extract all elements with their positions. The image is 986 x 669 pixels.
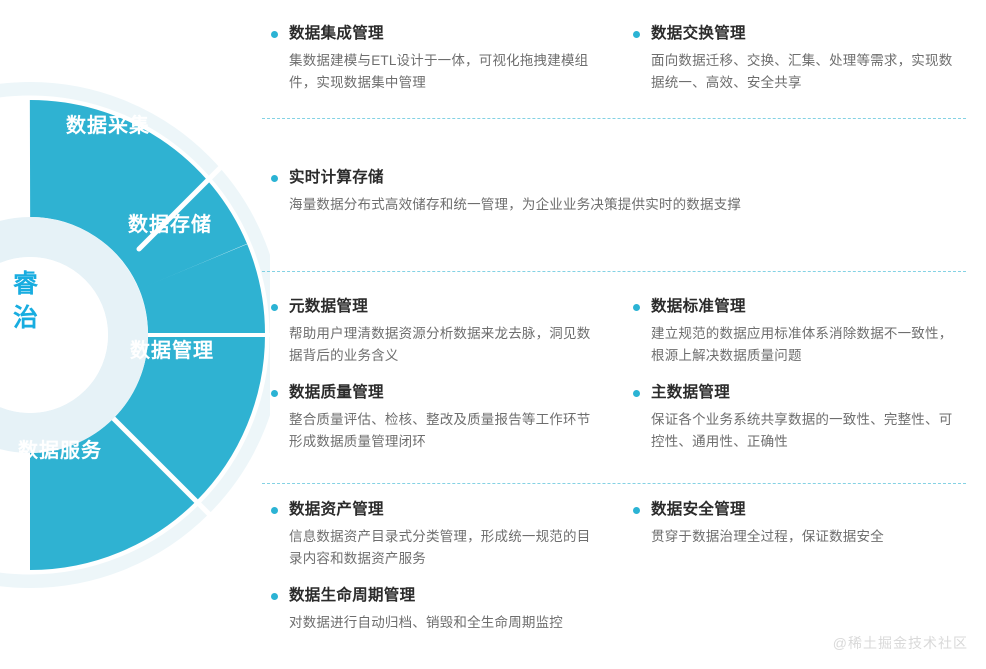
feature-title: 数据集成管理 <box>289 24 624 43</box>
feature-desc: 信息数据资产目录式分类管理，形成统一规范的目录内容和数据资产服务 <box>289 526 601 570</box>
wheel-sector-storage[interactable] <box>193 267 206 336</box>
feature-desc: 贯穿于数据治理全过程，保证数据安全 <box>651 526 963 548</box>
feature-column-right: 数据安全管理 贯穿于数据治理全过程，保证数据安全 <box>624 500 986 548</box>
feature-desc: 海量数据分布式高效储存和统一管理，为企业业务决策提供实时的数据支撑 <box>289 194 929 216</box>
bullet-icon <box>271 507 278 514</box>
feature-desc: 保证各个业务系统共享数据的一致性、完整性、可控性、通用性、正确性 <box>651 409 963 453</box>
watermark: @稀土掘金技术社区 <box>833 633 968 653</box>
feature-title: 数据资产管理 <box>289 500 624 519</box>
bullet-icon <box>633 31 640 38</box>
feature-item[interactable]: 数据集成管理 集数据建模与ETL设计于一体，可视化拖拽建模组件，实现数据集中管理 <box>262 24 624 94</box>
feature-title: 实时计算存储 <box>289 168 986 187</box>
feature-title: 数据生命周期管理 <box>289 586 624 605</box>
feature-list: 数据集成管理 集数据建模与ETL设计于一体，可视化拖拽建模组件，实现数据集中管理… <box>262 0 986 669</box>
feature-column-left: 数据集成管理 集数据建模与ETL设计于一体，可视化拖拽建模组件，实现数据集中管理 <box>262 24 624 94</box>
wheel-label-collection: 数据采集 <box>66 113 150 137</box>
wheel-sector-service[interactable] <box>30 460 155 512</box>
feature-item[interactable]: 数据质量管理 整合质量评估、检核、整改及质量报告等工作环节形成数据质量管理闭环 <box>262 383 624 453</box>
feature-item[interactable]: 数据交换管理 面向数据迁移、交换、汇集、处理等需求，实现数据统一、高效、安全共享 <box>624 24 986 94</box>
feature-desc: 对数据进行自动归档、销毁和全生命周期监控 <box>289 612 624 634</box>
feature-desc: 帮助用户理清数据资源分析数据来龙去脉，洞见数据背后的业务含义 <box>289 323 601 367</box>
feature-column-left: 实时计算存储 海量数据分布式高效储存和统一管理，为企业业务决策提供实时的数据支撑 <box>262 168 986 216</box>
bullet-icon <box>633 507 640 514</box>
bullet-icon <box>271 593 278 600</box>
feature-item[interactable]: 数据安全管理 贯穿于数据治理全过程，保证数据安全 <box>624 500 986 548</box>
feature-title: 数据交换管理 <box>651 24 986 43</box>
bullet-icon <box>271 390 278 397</box>
feature-column-right: 数据标准管理 建立规范的数据应用标准体系消除数据不一致性，根源上解决数据质量问题… <box>624 297 986 453</box>
feature-column-left: 数据资产管理 信息数据资产目录式分类管理，形成统一规范的目录内容和数据资产服务 … <box>262 500 624 634</box>
feature-column-right: 数据交换管理 面向数据迁移、交换、汇集、处理等需求，实现数据统一、高效、安全共享 <box>624 24 986 94</box>
feature-item[interactable]: 实时计算存储 海量数据分布式高效储存和统一管理，为企业业务决策提供实时的数据支撑 <box>262 168 986 216</box>
wheel-core-label-line1: 睿 <box>13 270 39 298</box>
bullet-icon <box>633 304 640 311</box>
feature-desc: 整合质量评估、检核、整改及质量报告等工作环节形成数据质量管理闭环 <box>289 409 601 453</box>
feature-title: 数据标准管理 <box>651 297 986 316</box>
bullet-icon <box>633 390 640 397</box>
section-divider <box>262 271 966 272</box>
feature-title: 主数据管理 <box>651 383 986 402</box>
feature-desc: 面向数据迁移、交换、汇集、处理等需求，实现数据统一、高效、安全共享 <box>651 50 963 94</box>
feature-item[interactable]: 数据标准管理 建立规范的数据应用标准体系消除数据不一致性，根源上解决数据质量问题 <box>624 297 986 367</box>
bullet-icon <box>271 304 278 311</box>
wheel-core-label-line2: 治 <box>13 303 39 332</box>
feature-title: 元数据管理 <box>289 297 624 316</box>
section-divider <box>262 483 966 484</box>
feature-item[interactable]: 元数据管理 帮助用户理清数据资源分析数据来龙去脉，洞见数据背后的业务含义 <box>262 297 624 367</box>
feature-title: 数据质量管理 <box>289 383 624 402</box>
bullet-icon <box>271 31 278 38</box>
feature-title: 数据安全管理 <box>651 500 986 519</box>
data-governance-wheel: 睿 治 数据采集 数据存储 数据管理 数据服务 <box>0 0 270 669</box>
feature-column-left: 元数据管理 帮助用户理清数据资源分析数据来龙去脉，洞见数据背后的业务含义 数据质… <box>262 297 624 453</box>
feature-desc: 建立规范的数据应用标准体系消除数据不一致性，根源上解决数据质量问题 <box>651 323 963 367</box>
infographic-canvas: 睿 治 数据采集 数据存储 数据管理 数据服务 数据集成管理 集数据建模与ETL… <box>0 0 986 669</box>
feature-item[interactable]: 主数据管理 保证各个业务系统共享数据的一致性、完整性、可控性、通用性、正确性 <box>624 383 986 453</box>
feature-desc: 集数据建模与ETL设计于一体，可视化拖拽建模组件，实现数据集中管理 <box>289 50 601 94</box>
feature-item[interactable]: 数据资产管理 信息数据资产目录式分类管理，形成统一规范的目录内容和数据资产服务 <box>262 500 624 570</box>
wheel-svg: 睿 治 数据采集 数据存储 数据管理 数据服务 <box>0 0 270 669</box>
wheel-label-storage: 数据存储 <box>128 212 212 236</box>
wheel-label-management: 数据管理 <box>130 338 214 362</box>
feature-item[interactable]: 数据生命周期管理 对数据进行自动归档、销毁和全生命周期监控 <box>262 586 624 634</box>
bullet-icon <box>271 175 278 182</box>
section-divider <box>262 118 966 119</box>
wheel-label-service: 数据服务 <box>18 438 102 462</box>
